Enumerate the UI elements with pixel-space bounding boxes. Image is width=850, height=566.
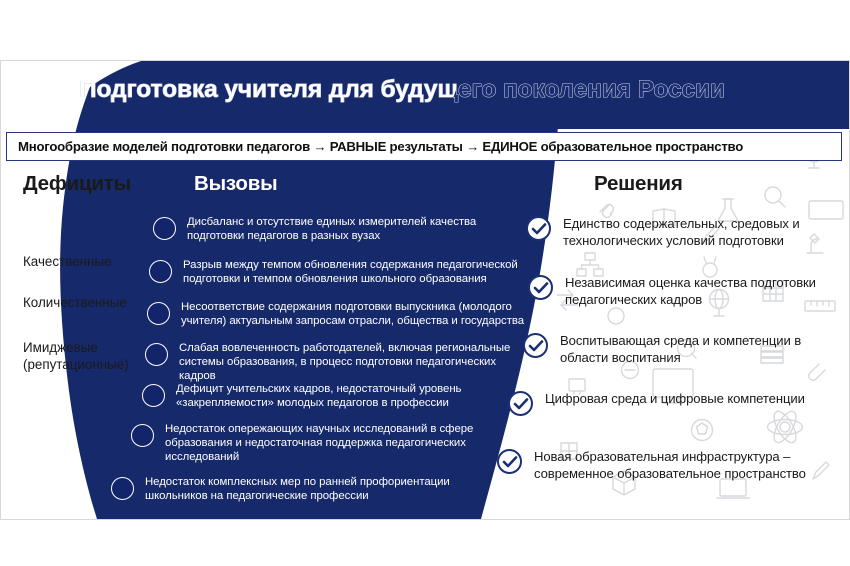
solution-text: Единство содержательных, средовых и техн… [563,216,826,249]
challenge-item: Слабая вовлеченность работодателей, вклю… [145,342,529,384]
strapline-bar: Многообразие моделей подготовки педагого… [6,132,842,161]
check-circle-icon [523,333,548,358]
challenge-text: Недостаток комплексных мер по ранней про… [145,476,501,504]
filled-circle-bullet [147,302,170,325]
filled-circle-bullet [142,384,165,407]
solution-text: Воспитывающая среда и компетенции в обла… [560,333,823,366]
check-circle-icon [526,216,551,241]
solution-item: Независимая оценка качества подготовки п… [528,275,828,308]
challenge-item: Дефицит учительских кадров, недостаточны… [142,383,522,411]
challenge-text: Несоответствие содержания подготовки вып… [181,301,527,329]
challenge-item: Недостаток опережающих научных исследова… [131,423,515,465]
challenge-item: Дисбаланс и отсутствие единых измерителе… [153,216,523,244]
solution-item: Единство содержательных, средовых и техн… [526,216,826,249]
column-heading-solutions: Решения [594,172,683,196]
solution-item: Воспитывающая среда и компетенции в обла… [523,333,823,366]
solution-item: Новая образовательная инфраструктура – с… [497,449,807,482]
filled-circle-bullet [111,477,134,500]
check-circle-icon [528,275,553,300]
challenge-text: Недостаток опережающих научных исследова… [165,423,515,465]
challenge-text: Разрыв между темпом обновления содержани… [183,259,523,287]
challenge-item: Недостаток комплексных мер по ранней про… [111,476,501,504]
challenge-item: Разрыв между темпом обновления содержани… [149,259,523,287]
challenge-text: Дефицит учительских кадров, недостаточны… [176,383,522,411]
solution-text: Новая образовательная инфраструктура – с… [534,449,807,482]
filled-circle-bullet [149,260,172,283]
strapline-text: Многообразие моделей подготовки педагого… [7,139,743,154]
check-circle-icon [497,449,522,474]
challenge-text: Дисбаланс и отсутствие единых измерителе… [187,216,523,244]
solution-item: Цифровая среда и цифровые компетенции [508,391,808,416]
challenge-item: Несоответствие содержания подготовки вып… [147,301,527,329]
column-heading-challenges: Вызовы [194,172,277,196]
filled-circle-bullet [145,343,168,366]
filled-circle-bullet [153,217,176,240]
check-circle-icon [508,391,533,416]
solution-text: Цифровая среда и цифровые компетенции [545,391,805,408]
solution-text: Независимая оценка качества подготовки п… [565,275,828,308]
filled-circle-bullet [131,424,154,447]
page-title: Подготовка учителя для будущего поколени… [79,76,839,104]
slide-canvas: Подготовка учителя для будущего поколени… [0,60,850,520]
column-heading-deficits: Дефициты [23,172,131,196]
challenge-text: Слабая вовлеченность работодателей, вклю… [179,342,529,384]
